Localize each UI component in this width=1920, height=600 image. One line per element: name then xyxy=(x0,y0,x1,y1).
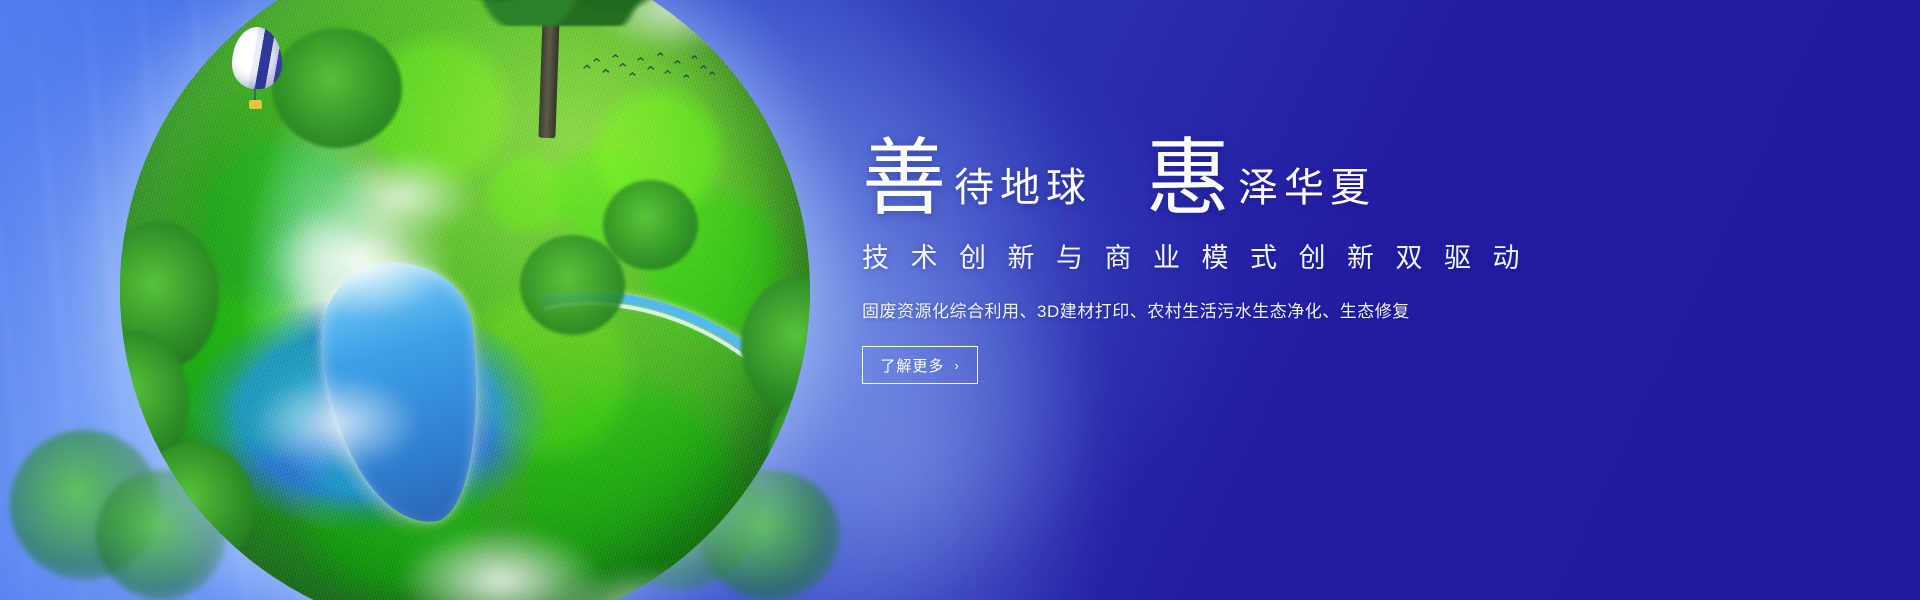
learn-more-label: 了解更多 xyxy=(880,355,944,376)
hot-air-balloon-icon xyxy=(232,27,282,113)
headline-phrase-1: 善 待地球 xyxy=(862,135,1092,214)
limb-tree xyxy=(272,28,402,148)
headline-small-text-1: 待地球 xyxy=(954,168,1092,208)
limb-tree xyxy=(603,180,698,270)
headline-big-char-2: 惠 xyxy=(1146,141,1230,220)
headline-small-text-2: 泽华夏 xyxy=(1238,168,1376,208)
headline-phrase-2: 惠 泽华夏 xyxy=(1146,135,1376,214)
hero-banner: 善 待地球 惠 泽华夏 技 术 创 新 与 商 业 模 式 创 新 双 驱 动 … xyxy=(0,0,1920,600)
limb-tree xyxy=(134,442,254,572)
tree-canopy xyxy=(437,0,667,26)
planet-cloud xyxy=(327,152,477,242)
learn-more-button[interactable]: 了解更多 › xyxy=(862,346,978,384)
chevron-right-icon: › xyxy=(954,359,959,372)
planet-cloud xyxy=(251,373,421,473)
balloon-envelope xyxy=(232,27,282,89)
bird-flock-icon xyxy=(580,48,720,88)
balloon-basket xyxy=(249,100,262,109)
page-title: 善 待地球 惠 泽华夏 xyxy=(862,118,1502,214)
tiny-planet-illustration xyxy=(120,0,810,600)
balloon-rigging xyxy=(254,87,256,101)
banner-subtitle: 技 术 创 新 与 商 业 模 式 创 新 双 驱 动 xyxy=(862,236,1502,275)
banner-content: 善 待地球 惠 泽华夏 技 术 创 新 与 商 业 模 式 创 新 双 驱 动 … xyxy=(862,118,1502,384)
headline-big-char-1: 善 xyxy=(862,141,946,220)
limb-tree xyxy=(520,235,625,335)
banner-description: 固废资源化综合利用、3D建材打印、农村生活污水生态净化、生态修复 xyxy=(862,297,1502,322)
